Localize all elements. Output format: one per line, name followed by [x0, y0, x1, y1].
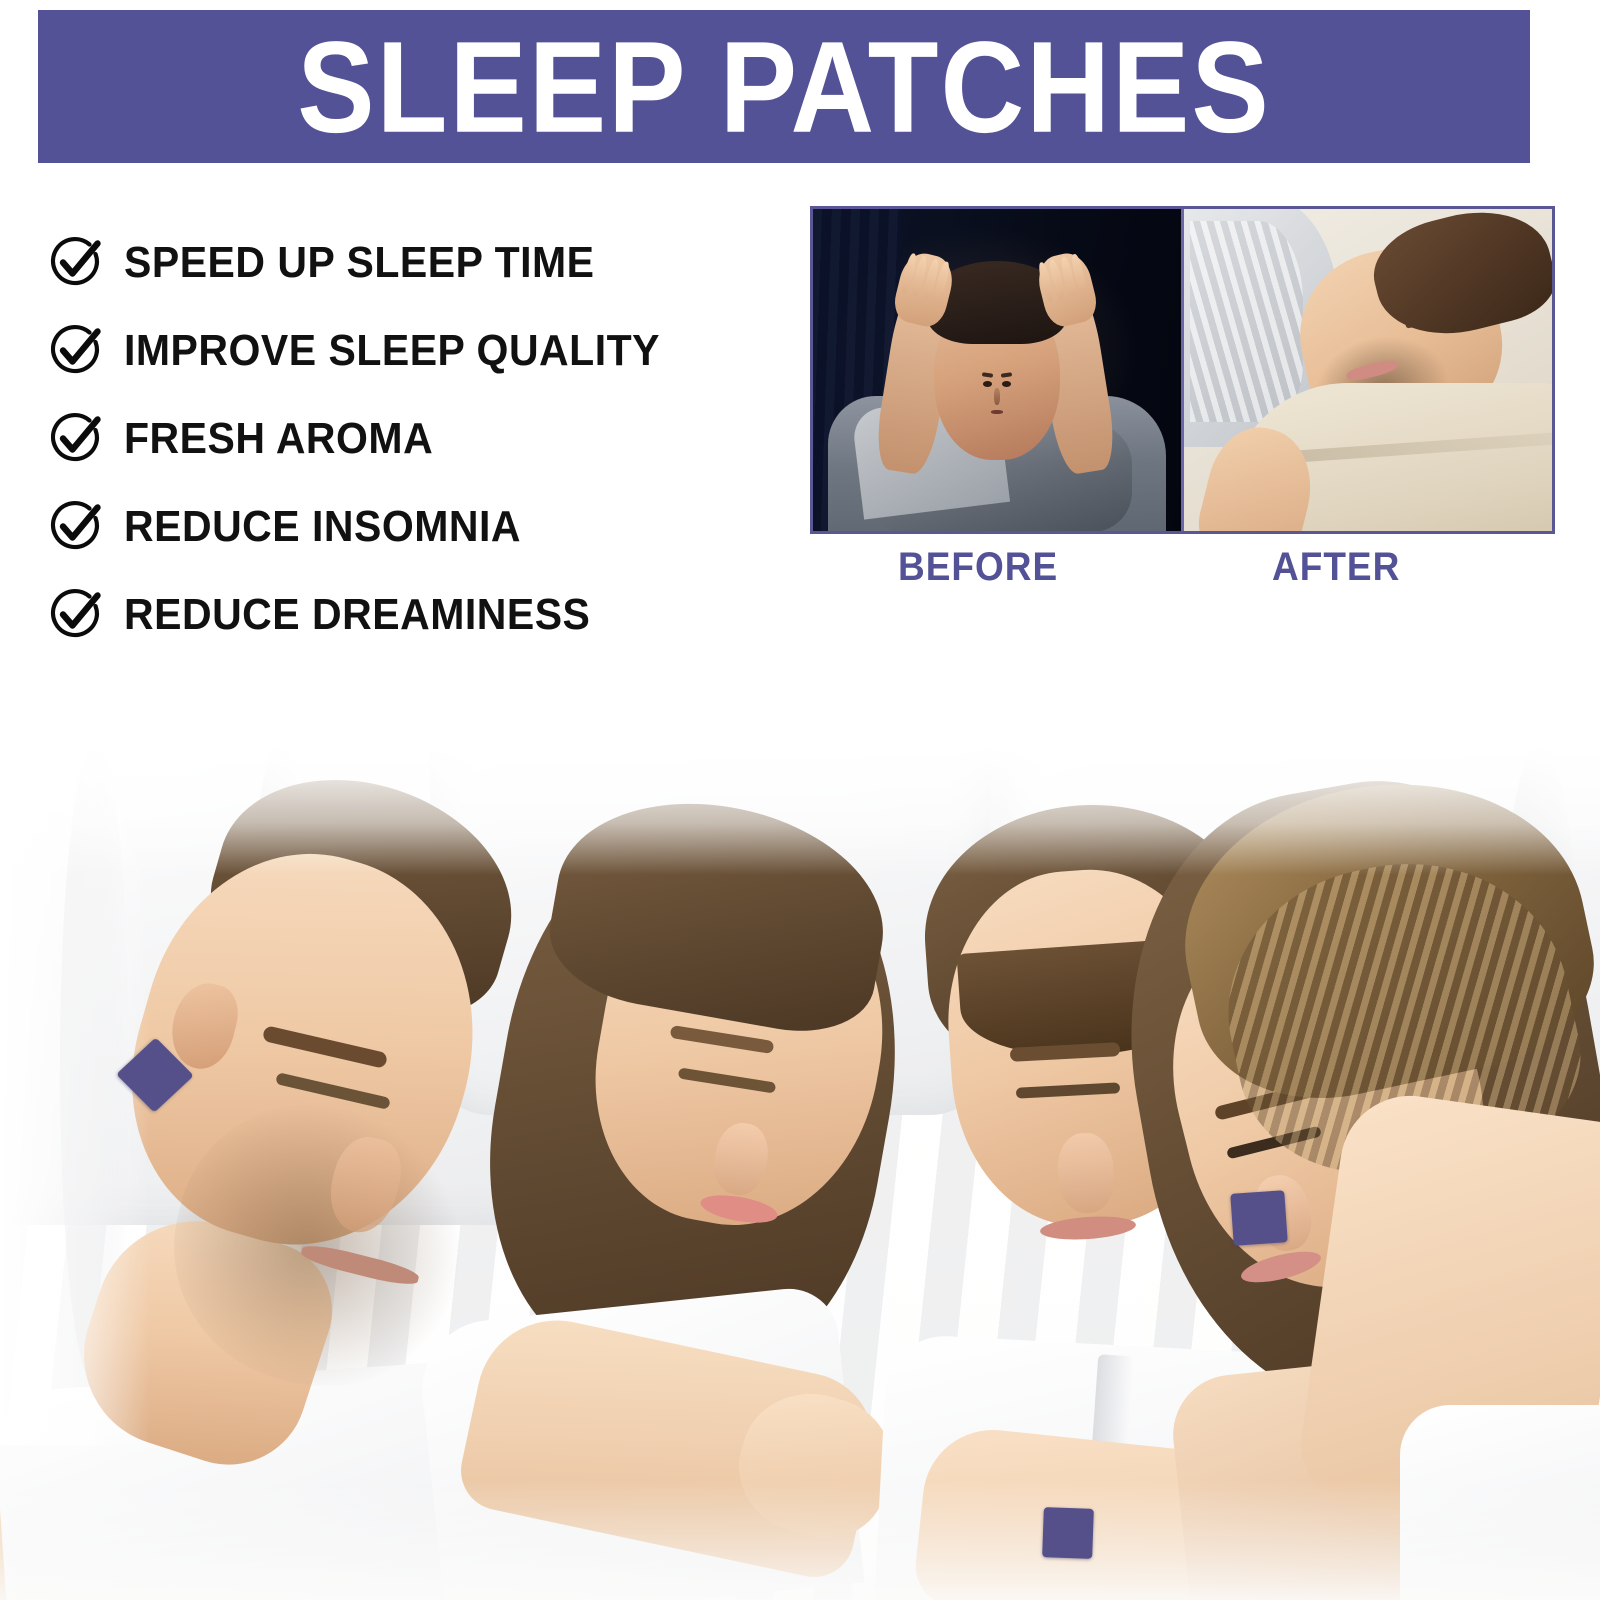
benefit-label: FRESH AROMA	[124, 413, 433, 463]
right-eyebrow	[1000, 372, 1012, 378]
benefits-list: SPEED UP SLEEP TIME IMPROVE SLEEP QUALIT…	[48, 218, 788, 658]
benefit-item: IMPROVE SLEEP QUALITY	[48, 306, 788, 394]
benefit-item: REDUCE DREAMINESS	[48, 570, 788, 658]
nose	[994, 388, 1000, 405]
header-banner: SLEEP PATCHES	[38, 10, 1530, 163]
page-title: SLEEP PATCHES	[297, 22, 1271, 152]
bedding-highlight-bottom	[0, 1480, 1600, 1600]
bedding-highlight-top	[0, 745, 1600, 875]
after-photo	[1184, 209, 1552, 531]
check-circle-icon	[48, 323, 102, 377]
benefit-label: SPEED UP SLEEP TIME	[124, 237, 595, 287]
benefit-item: SPEED UP SLEEP TIME	[48, 218, 788, 306]
check-circle-icon	[48, 499, 102, 553]
benefit-label: IMPROVE SLEEP QUALITY	[124, 325, 660, 375]
check-circle-icon	[48, 587, 102, 641]
family-sleeping-photo	[0, 745, 1600, 1600]
left-eyebrow	[982, 372, 994, 378]
before-photo	[813, 209, 1184, 531]
check-circle-icon	[48, 235, 102, 289]
benefit-label: REDUCE DREAMINESS	[124, 589, 590, 639]
check-circle-icon	[48, 411, 102, 465]
benefit-item: REDUCE INSOMNIA	[48, 482, 788, 570]
right-eye	[1002, 381, 1011, 387]
benefit-label: REDUCE INSOMNIA	[124, 501, 521, 551]
before-after-labels: BEFORE AFTER	[810, 546, 1555, 604]
patch-on-mothers-arm	[1230, 1190, 1287, 1246]
mouth	[991, 410, 1004, 414]
before-label: BEFORE	[898, 545, 1058, 590]
before-after-comparison: BEFORE AFTER	[810, 206, 1555, 604]
after-label: AFTER	[1272, 545, 1400, 590]
patch-on-wrist	[1042, 1507, 1094, 1559]
left-eye	[983, 381, 992, 387]
benefit-item: FRESH AROMA	[48, 394, 788, 482]
bedding-highlight-left	[0, 745, 150, 1445]
before-after-frame	[810, 206, 1555, 534]
